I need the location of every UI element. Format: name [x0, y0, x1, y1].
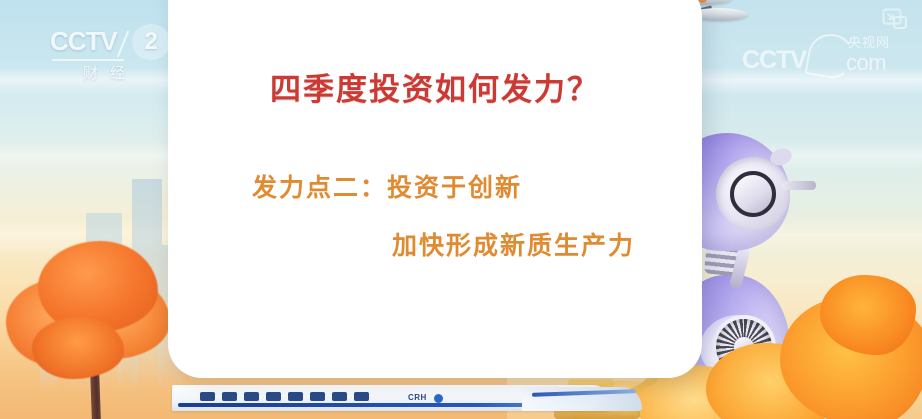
broadcast-frame: AI: [0, 0, 922, 419]
robot-visor-icon: [730, 171, 776, 217]
train-window: [310, 392, 325, 401]
channel-logo-rule: [52, 59, 124, 61]
autumn-tree-graphic: [0, 233, 172, 419]
train-window: [288, 392, 303, 401]
channel-logo-subtitle: 财经: [58, 62, 162, 83]
channel-number: 2: [132, 24, 170, 60]
card-body-line-1: 发力点二：投资于创新: [252, 176, 522, 201]
train-window: [354, 392, 369, 401]
channel-logo-slash: [117, 31, 129, 58]
train-crh-mark: CRH: [408, 393, 427, 402]
train-logo-icon: [434, 394, 443, 403]
watermark-com-text: com: [846, 50, 886, 76]
train-window: [244, 392, 259, 401]
high-speed-train-graphic: CRH: [172, 377, 642, 417]
cctv-dot-com-watermark: CCTV 央视网 com: [742, 38, 910, 78]
train-window: [266, 392, 281, 401]
card-title: 四季度投资如何发力？: [168, 74, 702, 105]
card-body-line-2: 加快形成新质生产力: [392, 234, 635, 259]
picture-in-picture-icon[interactable]: [882, 8, 908, 30]
content-card: 四季度投资如何发力？ 发力点二：投资于创新 加快形成新质生产力: [168, 0, 702, 378]
cctv2-channel-logo: CCTV 2 财经: [50, 26, 176, 84]
robot-antenna: [782, 181, 816, 190]
channel-logo-text: CCTV: [50, 26, 117, 57]
train-window: [332, 392, 347, 401]
watermark-cctv-text: CCTV: [742, 46, 806, 75]
train-window: [200, 392, 215, 401]
robot-face: [716, 157, 790, 231]
tree-foliage: [32, 317, 124, 379]
train-window: [222, 392, 237, 401]
watermark-cn-text: 央视网: [848, 32, 890, 51]
